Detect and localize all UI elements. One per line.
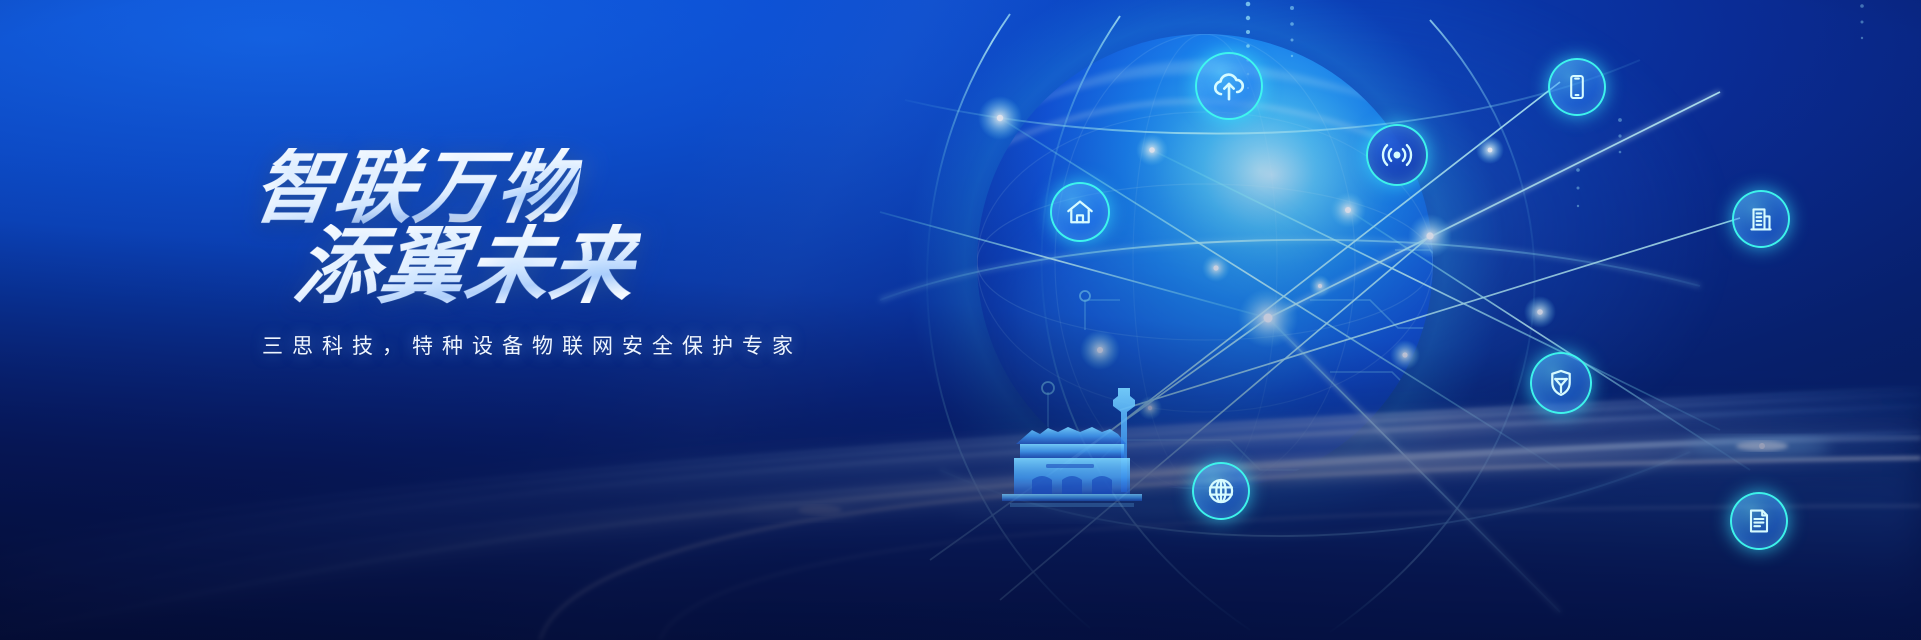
city-skyline-silhouette bbox=[980, 372, 1210, 512]
document-icon bbox=[1743, 505, 1775, 537]
headline-line-1: 智联万物 bbox=[248, 148, 585, 228]
globe-network-icon bbox=[1204, 474, 1238, 508]
hero-subtitle: 三思科技，特种设备物联网安全保护专家 bbox=[262, 330, 802, 360]
smartphone-icon bbox=[1561, 71, 1593, 103]
light-trails-graphic bbox=[0, 0, 1921, 640]
headline-line-2: 添翼未来 bbox=[289, 224, 642, 308]
node-building[interactable] bbox=[1732, 190, 1790, 248]
home-icon bbox=[1063, 195, 1097, 229]
node-home[interactable] bbox=[1050, 182, 1110, 242]
wifi-signal-icon bbox=[1379, 137, 1415, 173]
shield-icon bbox=[1544, 366, 1578, 400]
cloud-upload-icon bbox=[1209, 66, 1249, 106]
node-globe-network[interactable] bbox=[1192, 462, 1250, 520]
hero-banner: 智联万物 添翼未来 三思科技，特种设备物联网安全保护专家 bbox=[0, 0, 1921, 640]
node-document[interactable] bbox=[1730, 492, 1788, 550]
node-smartphone[interactable] bbox=[1548, 58, 1606, 116]
hero-copy: 智联万物 添翼未来 三思科技，特种设备物联网安全保护专家 bbox=[250, 132, 1010, 312]
node-wifi-signal[interactable] bbox=[1366, 124, 1428, 186]
page-title: 智联万物 添翼未来 bbox=[250, 132, 1010, 312]
building-icon bbox=[1745, 203, 1777, 235]
node-cloud-upload[interactable] bbox=[1195, 52, 1263, 120]
node-shield[interactable] bbox=[1530, 352, 1592, 414]
